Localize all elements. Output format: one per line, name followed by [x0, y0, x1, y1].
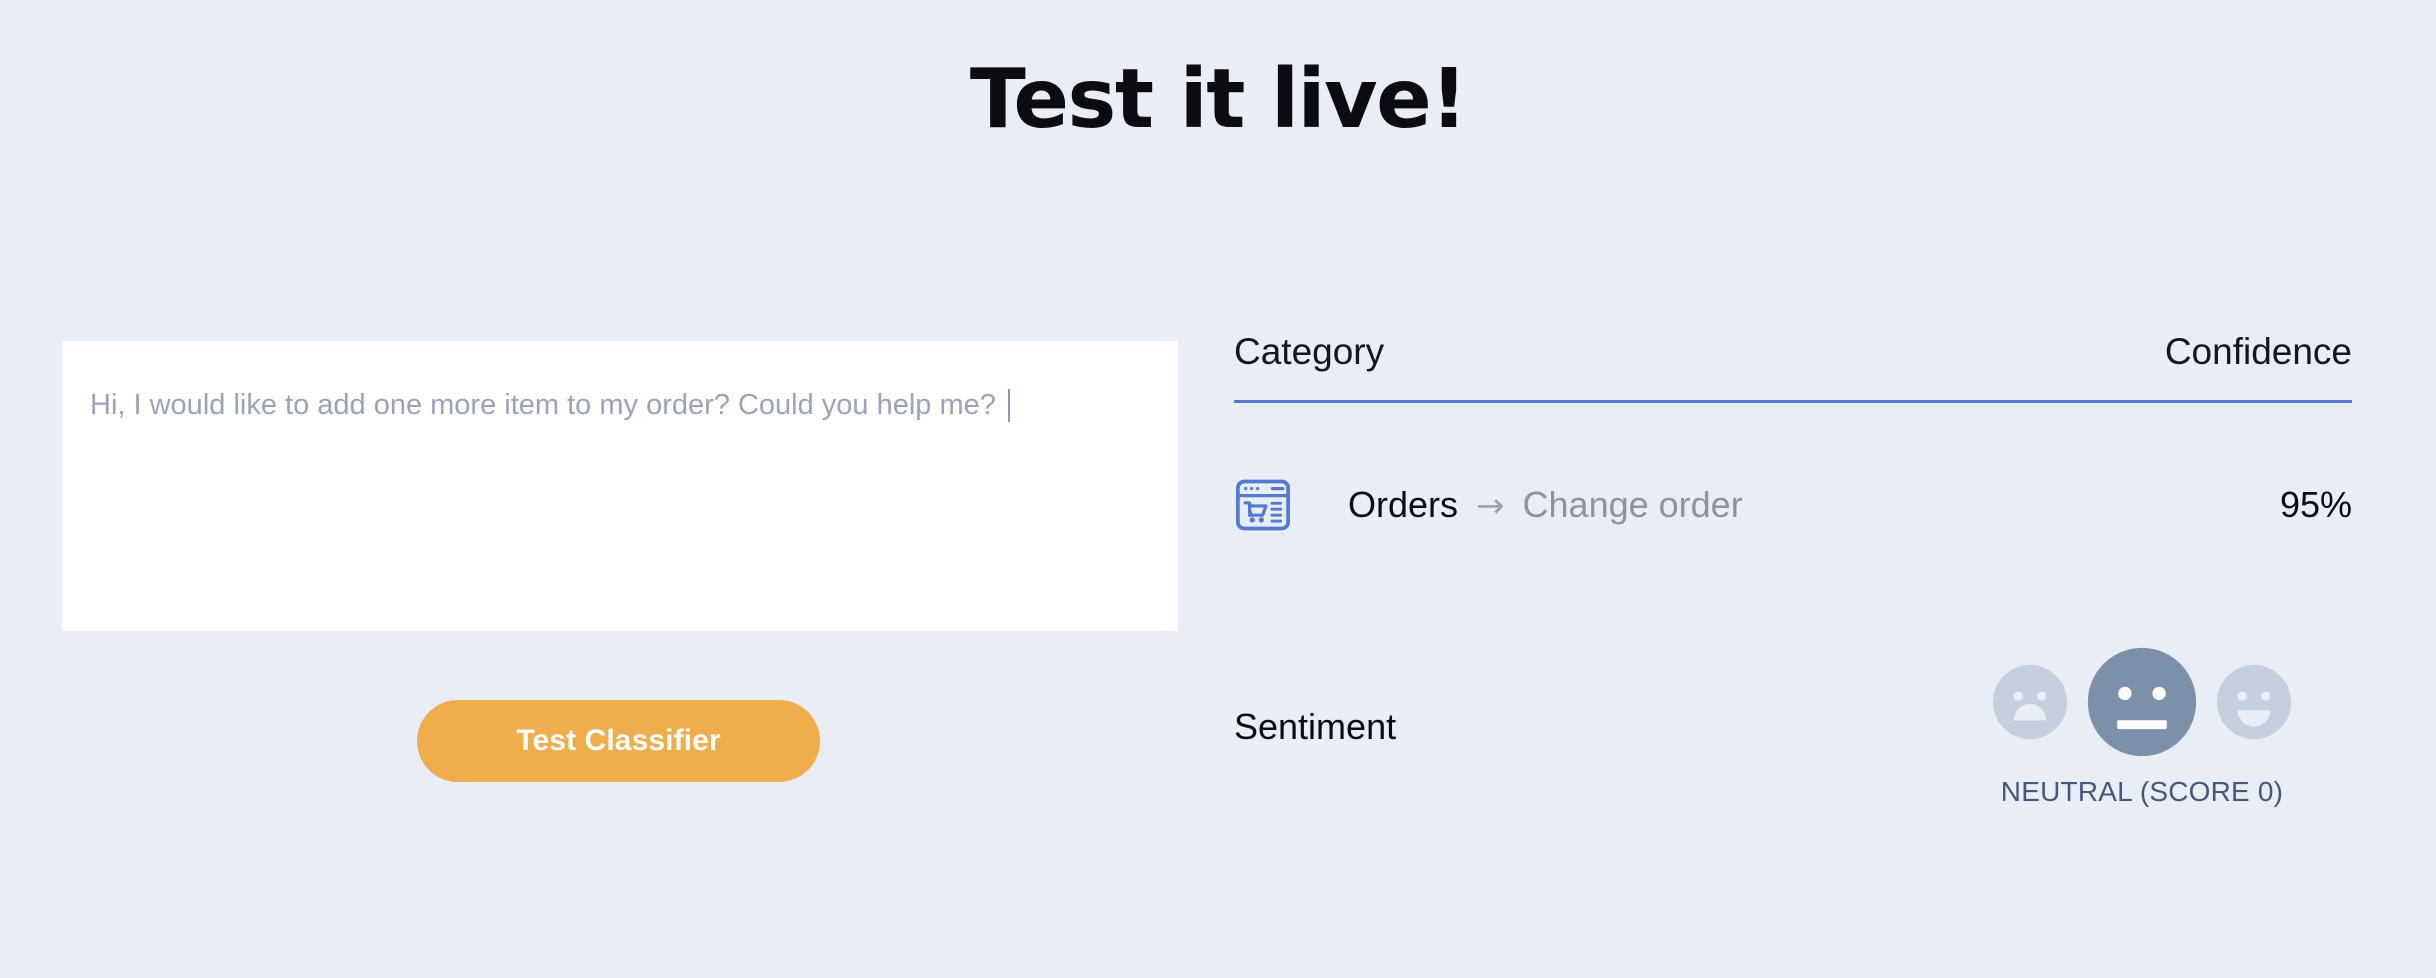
sentiment-result: NEUTRAL (SCORE 0)	[1932, 645, 2352, 809]
arrow-right-icon: →	[1476, 484, 1505, 528]
results-table-header: Category Confidence	[1234, 330, 2352, 403]
sentiment-label: Sentiment	[1234, 705, 1396, 749]
page-title: Test it live!	[0, 52, 2436, 148]
happy-face-icon[interactable]	[2215, 663, 2293, 741]
results-panel: Category Confidence Orders → Change orde…	[1234, 330, 2352, 809]
message-input-value[interactable]: Hi, I would like to add one more item to…	[90, 387, 996, 423]
sentiment-caption: NEUTRAL (SCORE 0)	[2001, 775, 2283, 809]
column-header-category: Category	[1234, 330, 1384, 374]
category-path: Orders → Change order	[1348, 483, 1743, 528]
neutral-face-icon[interactable]	[2085, 645, 2199, 759]
test-classifier-button[interactable]: Test Classifier	[417, 700, 820, 782]
message-input-panel[interactable]: Hi, I would like to add one more item to…	[62, 341, 1178, 631]
sentiment-face-group	[1991, 645, 2293, 759]
category-primary: Orders	[1348, 483, 1458, 527]
shopping-cart-window-icon	[1234, 476, 1292, 534]
confidence-value: 95%	[2280, 483, 2352, 527]
category-secondary: Change order	[1523, 483, 1743, 527]
table-row[interactable]: Orders → Change order 95%	[1234, 469, 2352, 541]
text-caret	[1008, 389, 1010, 422]
column-header-confidence: Confidence	[2165, 330, 2352, 374]
sad-face-icon[interactable]	[1991, 663, 2069, 741]
message-input-row[interactable]: Hi, I would like to add one more item to…	[90, 387, 1154, 423]
sentiment-section: Sentiment	[1234, 645, 2352, 809]
